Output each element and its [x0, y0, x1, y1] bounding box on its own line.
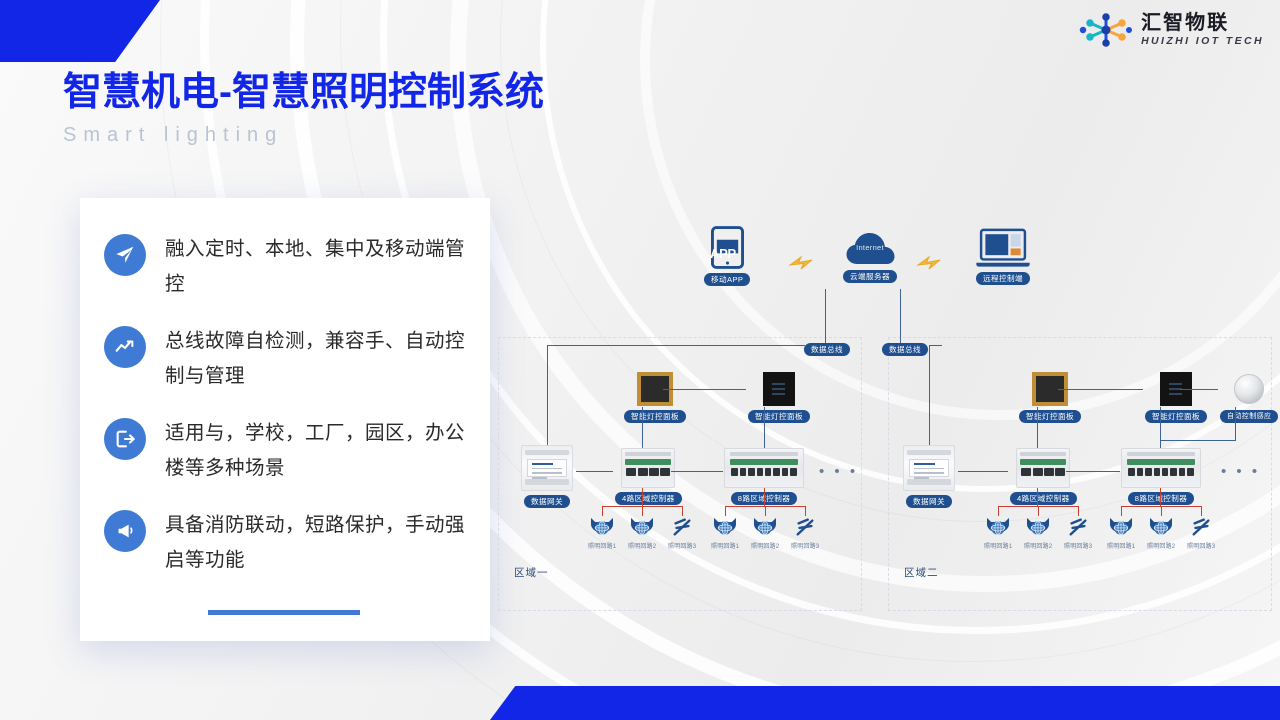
feature-text: 总线故障自检测，兼容手、自动控制与管理 — [165, 324, 466, 394]
zone-two-c4-to-c8-line — [1066, 471, 1120, 472]
feature-text: 具备消防联动，短路保护，手动强启等功能 — [165, 508, 466, 578]
load-node: 照明回路1 — [984, 516, 1012, 550]
molecule-network-icon — [1079, 13, 1133, 47]
zone-one-gateway-node[interactable]: 数据网关 — [521, 445, 573, 508]
load-label: 照明回路3 — [791, 541, 819, 550]
ceiling-lamp-icon — [752, 516, 778, 538]
page-subtitle: Smart lighting — [63, 122, 544, 148]
zone-one-load-tick — [805, 506, 806, 516]
zone-one-panel-gold-label: 智能灯控面板 — [624, 410, 686, 423]
zone-one-load-tick — [682, 506, 683, 516]
load-node: 照明回路1 — [588, 516, 616, 550]
brand-logo: 汇智物联 HUIZHI IOT TECH — [1079, 12, 1264, 48]
load-label: 照明回路2 — [751, 541, 779, 550]
zone-two-bus-run — [929, 345, 942, 346]
chart-trend-icon — [104, 326, 146, 368]
cloud-to-bus-line-right — [900, 289, 901, 345]
load-label: 照明回路1 — [984, 541, 1012, 550]
zone-two-sensor-drop-line — [1235, 407, 1236, 440]
zone-two-load-tick — [1161, 506, 1162, 516]
data-gateway-icon — [903, 445, 955, 491]
zone-one-c4-load-drop — [642, 488, 643, 506]
zone-one-load-tick — [765, 506, 766, 516]
zone-two-c4-load-drop — [1037, 488, 1038, 506]
zone-two-bus-drop — [929, 345, 930, 445]
page-title: 智慧机电-智慧照明控制系统 — [63, 70, 544, 116]
app-badge-text: APP — [710, 246, 736, 261]
feature-card: 融入定时、本地、集中及移动端管控 总线故障自检测，兼容手、自动控制与管理 适用与… — [80, 198, 490, 641]
ceiling-lamp-icon — [712, 516, 738, 538]
zone-one-gw-to-c4-line — [576, 471, 613, 472]
area-controller-8way-icon — [724, 448, 804, 488]
load-label: 照明回路2 — [1024, 541, 1052, 550]
data-bus-label-left: 数据总线 — [804, 343, 850, 356]
ceiling-lamp-icon — [589, 516, 615, 538]
feature-item: 融入定时、本地、集中及移动端管控 — [80, 232, 490, 302]
logo-name-en: HUIZHI IOT TECH — [1141, 34, 1264, 48]
mobile-app-label: 移动APP — [704, 273, 750, 286]
zone-two-panel-gold-node[interactable]: 智能灯控面板 — [1019, 372, 1081, 423]
load-label: 照明回路3 — [1187, 541, 1215, 550]
remote-control-node[interactable]: 远程控制端 — [975, 228, 1031, 285]
cloud-icon: Internet — [842, 228, 898, 268]
load-label: 照明回路2 — [1147, 541, 1175, 550]
load-label: 照明回路3 — [668, 541, 696, 550]
ceiling-lamp-icon — [1108, 516, 1134, 538]
fluorescent-tube-icon — [1065, 516, 1091, 538]
load-node: 照明回路3 — [668, 516, 696, 550]
ceiling-lamp-icon — [629, 516, 655, 538]
feature-item: 总线故障自检测，兼容手、自动控制与管理 — [80, 324, 490, 394]
zone-two-sensor-run-line — [1160, 440, 1236, 441]
zone-one-c8-load-drop — [764, 488, 765, 506]
zone-two-load-tick — [1038, 506, 1039, 516]
zone-two-sensor-label: 自动控制感应 — [1220, 410, 1278, 423]
load-node: 照明回路2 — [628, 516, 656, 550]
feature-item: 适用与，学校，工厂，园区，办公楼等多种场景 — [80, 416, 490, 486]
zone-two-panel-gold-label: 智能灯控面板 — [1019, 410, 1081, 423]
exit-arrow-icon — [104, 418, 146, 460]
zone-two-panel-link-line — [1058, 389, 1143, 390]
zone-one-bus-drop — [547, 345, 548, 445]
feature-item: 具备消防联动，短路保护，手动强启等功能 — [80, 508, 490, 578]
zone-one-panel-dark-node[interactable]: 智能灯控面板 — [748, 372, 810, 423]
load-label: 照明回路2 — [628, 541, 656, 550]
load-node: 照明回路3 — [1064, 516, 1092, 550]
zone-one-controller-4-node[interactable]: 4路区域控制器 — [615, 448, 682, 505]
area-controller-4way-icon — [621, 448, 675, 488]
feature-text: 融入定时、本地、集中及移动端管控 — [165, 232, 466, 302]
laptop-icon — [975, 228, 1031, 268]
zone-one-panel-gold-node[interactable]: 智能灯控面板 — [624, 372, 686, 423]
ceiling-lamp-icon — [985, 516, 1011, 538]
motion-sensor-icon — [1234, 374, 1264, 404]
zone-two-load-tick — [1201, 506, 1202, 516]
zone-one-bus-run — [547, 345, 805, 346]
zone-one-controller-4-label: 4路区域控制器 — [615, 492, 682, 505]
bottom-right-accent-banner — [490, 686, 1280, 720]
feature-text: 适用与，学校，工厂，园区，办公楼等多种场景 — [165, 416, 466, 486]
zone-two-gw-to-c4-line — [958, 471, 1008, 472]
zone-two-c8-to-panel-line — [1160, 407, 1161, 448]
remote-control-label: 远程控制端 — [976, 272, 1030, 285]
fluorescent-tube-icon — [1188, 516, 1214, 538]
zone-two-load-tick — [1121, 506, 1122, 516]
data-gateway-icon — [521, 445, 573, 491]
zone-two-panel-dark-label: 智能灯控面板 — [1145, 410, 1207, 423]
zone-two-controller-4-node[interactable]: 4路区域控制器 — [1010, 448, 1077, 505]
area-controller-4way-icon — [1016, 448, 1070, 488]
cloud-label-text: Internet — [842, 243, 898, 252]
zone-one-load-tick — [725, 506, 726, 516]
system-architecture-diagram: 区域一 区域二 移动APP APP Internet 云端服务器 远程控制端 — [492, 176, 1280, 628]
zone-two-ellipsis: • • • — [1221, 464, 1260, 479]
load-node: 照明回路3 — [791, 516, 819, 550]
zone-two-load-tick — [1078, 506, 1079, 516]
zone-two-load-tick — [998, 506, 999, 516]
page-title-block: 智慧机电-智慧照明控制系统 Smart lighting — [63, 70, 544, 148]
wireless-bolt-icon — [915, 254, 945, 272]
logo-name-cn: 汇智物联 — [1141, 12, 1264, 34]
load-node: 照明回路1 — [1107, 516, 1135, 550]
card-accent-underline — [208, 610, 360, 615]
zone-two-gateway-node[interactable]: 数据网关 — [903, 445, 955, 508]
zone-two-gateway-label: 数据网关 — [906, 495, 952, 508]
cloud-server-node[interactable]: Internet 云端服务器 — [842, 228, 898, 283]
load-node: 照明回路3 — [1187, 516, 1215, 550]
zone-two-label: 区域二 — [904, 565, 939, 580]
cloud-server-label: 云端服务器 — [843, 270, 897, 283]
zone-two-controller-4-label: 4路区域控制器 — [1010, 492, 1077, 505]
cloud-to-bus-line-left — [825, 289, 826, 345]
smart-light-panel-dark-icon — [763, 372, 795, 406]
load-label: 照明回路1 — [588, 541, 616, 550]
area-controller-8way-icon — [1121, 448, 1201, 488]
fluorescent-tube-icon — [792, 516, 818, 538]
fluorescent-tube-icon — [669, 516, 695, 538]
zone-two-sensor-node[interactable]: 自动控制感应 — [1220, 374, 1278, 423]
data-bus-label-right: 数据总线 — [882, 343, 928, 356]
zone-one-c4-to-c8-line — [671, 471, 723, 472]
zone-one-load-tick — [602, 506, 603, 516]
zone-one-panel-dark-label: 智能灯控面板 — [748, 410, 810, 423]
load-node: 照明回路1 — [711, 516, 739, 550]
zone-one-c4-to-panel-line — [642, 407, 643, 448]
wireless-bolt-icon — [787, 254, 817, 272]
megaphone-icon — [104, 510, 146, 552]
load-label: 照明回路3 — [1064, 541, 1092, 550]
zone-one-load-tick — [642, 506, 643, 516]
zone-one-gateway-label: 数据网关 — [524, 495, 570, 508]
zone-one-label: 区域一 — [514, 565, 549, 580]
ceiling-lamp-icon — [1148, 516, 1174, 538]
zone-two-c8-load-drop — [1160, 488, 1161, 506]
paper-plane-icon — [104, 234, 146, 276]
zone-two-c4-to-panel-line — [1037, 407, 1038, 448]
zone-one-panel-link-line — [663, 389, 746, 390]
load-node: 照明回路2 — [1024, 516, 1052, 550]
load-label: 照明回路1 — [711, 541, 739, 550]
load-node: 照明回路2 — [751, 516, 779, 550]
zone-one-c8-to-panel-line — [764, 407, 765, 448]
zone-two-panel-dark-node[interactable]: 智能灯控面板 — [1145, 372, 1207, 423]
ceiling-lamp-icon — [1025, 516, 1051, 538]
zone-two-panel-to-sensor-line — [1180, 389, 1218, 390]
load-node: 照明回路2 — [1147, 516, 1175, 550]
zone-one-ellipsis: • • • — [819, 464, 858, 479]
load-label: 照明回路1 — [1107, 541, 1135, 550]
